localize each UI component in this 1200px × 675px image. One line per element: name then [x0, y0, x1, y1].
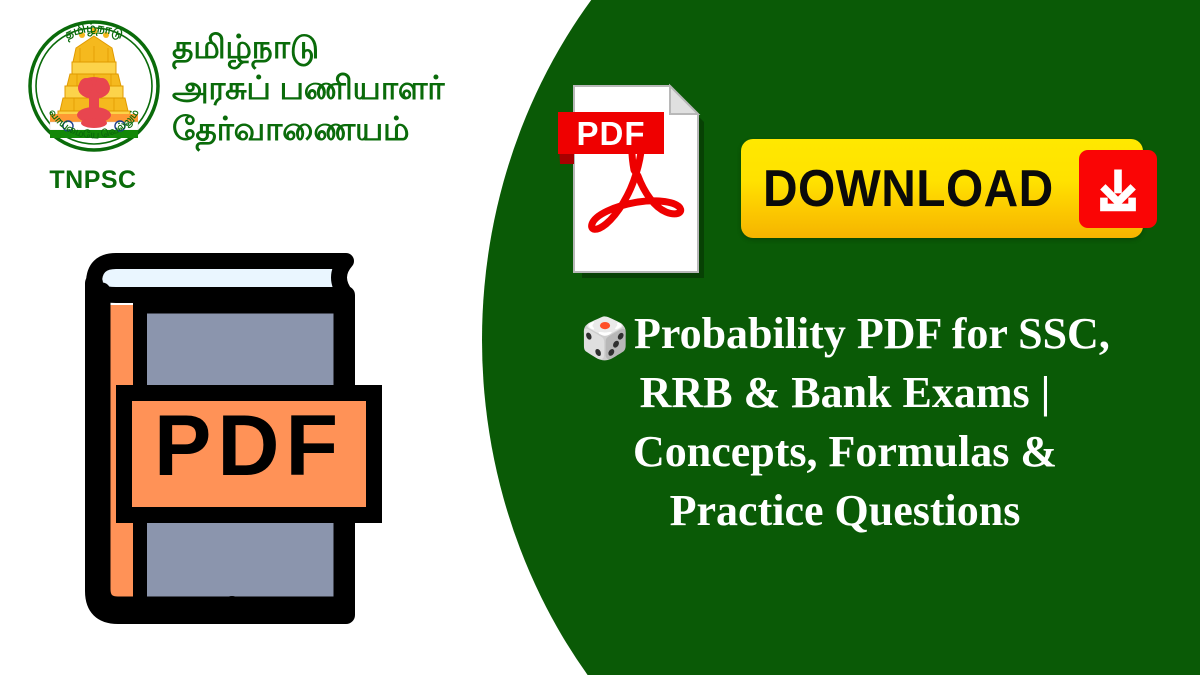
headline-block: 🎲Probability PDF for SSC, RRB & Bank Exa…	[500, 304, 1190, 540]
page-title-line-4: Practice Questions	[670, 486, 1021, 535]
download-button-label: DOWNLOAD	[763, 163, 1054, 215]
tnpsc-logo-block: . தமிழ்நாடு வாய்மையே வெல்லும் TNPSC	[8, 16, 178, 201]
game-die-icon: 🎲	[580, 316, 630, 361]
page-title-line-3: Concepts, Formulas &	[633, 427, 1057, 476]
download-button[interactable]: DOWNLOAD	[741, 139, 1143, 238]
poster-canvas: . தமிழ்நாடு வாய்மையே வெல்லும் TNPSC தமிழ…	[0, 0, 1200, 675]
svg-text:PDF: PDF	[577, 115, 646, 152]
organization-name-line-1: தமிழ்நாடு	[172, 26, 522, 67]
pdf-book-icon: PDF	[60, 243, 412, 633]
organization-name-line-3: தேர்வாணையம்	[172, 108, 522, 149]
download-arrow-icon[interactable]	[1079, 150, 1157, 228]
organization-name-line-2: அரசுப் பணியாளர்	[172, 67, 522, 108]
page-title-line-1: Probability PDF for SSC,	[634, 309, 1110, 358]
tnpsc-acronym: TNPSC	[8, 166, 178, 195]
organization-name: தமிழ்நாடு அரசுப் பணியாளர் தேர்வாணையம்	[172, 26, 522, 149]
tnpsc-emblem-icon: . தமிழ்நாடு வாய்மையே வெல்லும்	[20, 16, 168, 164]
svg-text:PDF: PDF	[154, 398, 344, 494]
pdf-file-icon: PDF	[552, 78, 730, 278]
page-title-line-2: RRB & Bank Exams |	[640, 368, 1051, 417]
page-title: 🎲Probability PDF for SSC, RRB & Bank Exa…	[500, 304, 1190, 540]
